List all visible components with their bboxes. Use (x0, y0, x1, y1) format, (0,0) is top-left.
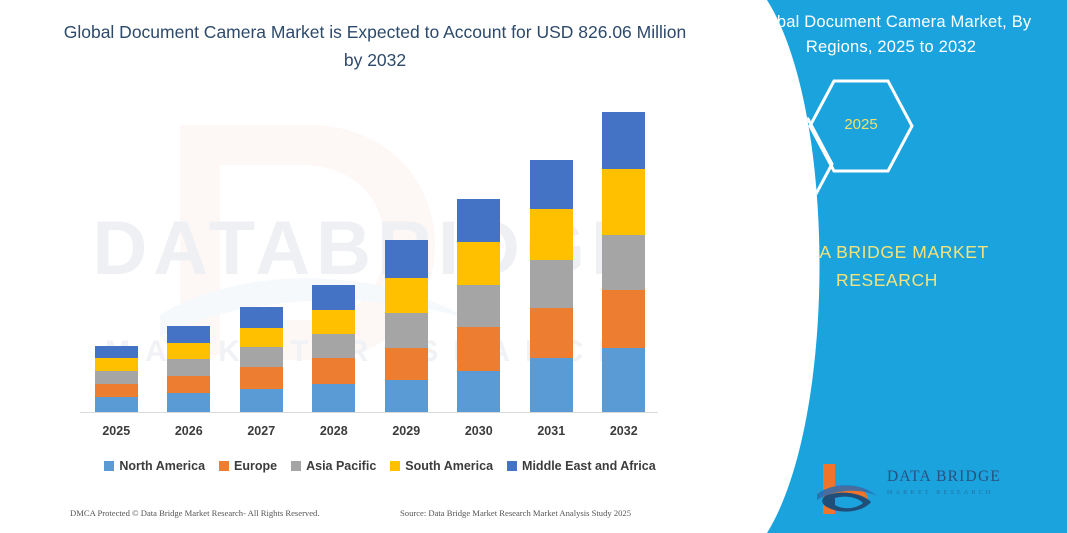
bar-segment-2032-europe (602, 290, 645, 348)
legend-swatch-icon (507, 461, 517, 471)
footer-source: Source: Data Bridge Market Research Mark… (400, 508, 631, 518)
x-axis-labels: 20252026202720282029203020312032 (80, 424, 660, 442)
bar-segment-2026-north-america (167, 393, 210, 412)
brand-name: DATA BRIDGE MARKET RESEARCH (737, 238, 1037, 294)
bar-segment-2032-middle-east-and-africa (602, 112, 645, 168)
company-logo: DATA BRIDGE MARKET RESEARCH (815, 458, 1035, 520)
bar-segment-2026-asia-pacific (167, 359, 210, 376)
footer-copyright: DMCA Protected © Data Bridge Market Rese… (70, 508, 320, 518)
bar-segment-2025-middle-east-and-africa (95, 346, 138, 358)
bar-segment-2027-north-america (240, 389, 283, 412)
bar-segment-2029-middle-east-and-africa (385, 240, 428, 277)
brand-line-2: RESEARCH (737, 266, 1037, 294)
bar-2025[interactable] (95, 346, 138, 412)
right-panel-title: Global Document Camera Market, By Region… (735, 10, 1047, 60)
hexagon-group: 2032 2025 (707, 88, 1067, 213)
bar-2028[interactable] (312, 285, 355, 412)
legend-label: Europe (234, 459, 277, 473)
bar-segment-2031-south-america (530, 209, 573, 259)
bar-segment-2032-north-america (602, 348, 645, 412)
legend-item-europe[interactable]: Europe (219, 459, 277, 473)
bar-2032[interactable] (602, 112, 645, 412)
bar-segment-2025-asia-pacific (95, 371, 138, 384)
bar-segment-2031-europe (530, 308, 573, 358)
x-label-2031: 2031 (515, 424, 587, 438)
legend-item-south-america[interactable]: South America (390, 459, 493, 473)
bar-2029[interactable] (385, 240, 428, 412)
bar-segment-2026-europe (167, 376, 210, 393)
bar-segment-2028-asia-pacific (312, 334, 355, 358)
bar-segment-2025-north-america (95, 397, 138, 412)
x-label-2028: 2028 (298, 424, 370, 438)
footer: DMCA Protected © Data Bridge Market Rese… (60, 508, 690, 524)
bar-segment-2027-south-america (240, 328, 283, 347)
legend-item-north-america[interactable]: North America (104, 459, 205, 473)
bar-segment-2032-south-america (602, 169, 645, 235)
bar-segment-2032-asia-pacific (602, 235, 645, 290)
bar-segment-2031-north-america (530, 358, 573, 412)
bar-segment-2028-north-america (312, 384, 355, 412)
chart-legend: North AmericaEuropeAsia PacificSouth Ame… (80, 456, 680, 476)
bar-segment-2030-middle-east-and-africa (457, 199, 500, 242)
chart-title: Global Document Camera Market is Expecte… (60, 18, 690, 74)
bar-segment-2029-asia-pacific (385, 313, 428, 347)
legend-item-middle-east-and-africa[interactable]: Middle East and Africa (507, 459, 656, 473)
bar-segment-2029-europe (385, 348, 428, 380)
bar-segment-2028-europe (312, 358, 355, 384)
legend-swatch-icon (104, 461, 114, 471)
x-label-2026: 2026 (153, 424, 225, 438)
bar-2030[interactable] (457, 199, 500, 412)
bar-2026[interactable] (167, 326, 210, 412)
legend-label: South America (405, 459, 493, 473)
bar-segment-2031-middle-east-and-africa (530, 160, 573, 209)
bar-segment-2029-north-america (385, 380, 428, 412)
bar-2031[interactable] (530, 160, 573, 412)
legend-label: Middle East and Africa (522, 459, 656, 473)
bar-segment-2025-europe (95, 384, 138, 398)
logo-text: DATA BRIDGE MARKET RESEARCH (887, 468, 1037, 496)
legend-swatch-icon (390, 461, 400, 471)
bar-segment-2030-asia-pacific (457, 285, 500, 328)
x-label-2025: 2025 (80, 424, 152, 438)
bar-segment-2027-europe (240, 367, 283, 389)
brand-line-1: DATA BRIDGE MARKET (737, 238, 1037, 266)
x-label-2030: 2030 (443, 424, 515, 438)
bar-segment-2030-north-america (457, 371, 500, 412)
bar-segment-2027-asia-pacific (240, 347, 283, 367)
bar-segment-2025-south-america (95, 358, 138, 370)
bar-segment-2026-middle-east-and-africa (167, 326, 210, 343)
bar-segment-2028-middle-east-and-africa (312, 285, 355, 310)
logo-subtitle: MARKET RESEARCH (887, 489, 1037, 496)
hexagon-2025: 2025 (807, 78, 915, 174)
hexagon-2025-label: 2025 (807, 116, 915, 133)
bar-2027[interactable] (240, 307, 283, 412)
x-axis-line (80, 412, 658, 413)
infographic-root: DATABRIDGE MARKET RESEARCH Global Docume… (0, 0, 1067, 533)
x-label-2029: 2029 (370, 424, 442, 438)
bar-segment-2029-south-america (385, 278, 428, 314)
bar-segment-2026-south-america (167, 343, 210, 359)
legend-label: Asia Pacific (306, 459, 376, 473)
chart-panel: DATABRIDGE MARKET RESEARCH Global Docume… (0, 0, 740, 533)
legend-swatch-icon (219, 461, 229, 471)
legend-label: North America (119, 459, 205, 473)
bar-segment-2030-europe (457, 327, 500, 371)
logo-bridge-icon (815, 460, 881, 518)
legend-item-asia-pacific[interactable]: Asia Pacific (291, 459, 376, 473)
stacked-bars-container (80, 100, 660, 412)
legend-swatch-icon (291, 461, 301, 471)
x-label-2027: 2027 (225, 424, 297, 438)
x-label-2032: 2032 (588, 424, 660, 438)
bar-segment-2027-middle-east-and-africa (240, 307, 283, 328)
bar-segment-2031-asia-pacific (530, 260, 573, 308)
bar-segment-2028-south-america (312, 310, 355, 334)
right-blue-panel: Global Document Camera Market, By Region… (707, 0, 1067, 533)
logo-title: DATA BRIDGE (887, 468, 1037, 486)
bar-segment-2030-south-america (457, 242, 500, 285)
